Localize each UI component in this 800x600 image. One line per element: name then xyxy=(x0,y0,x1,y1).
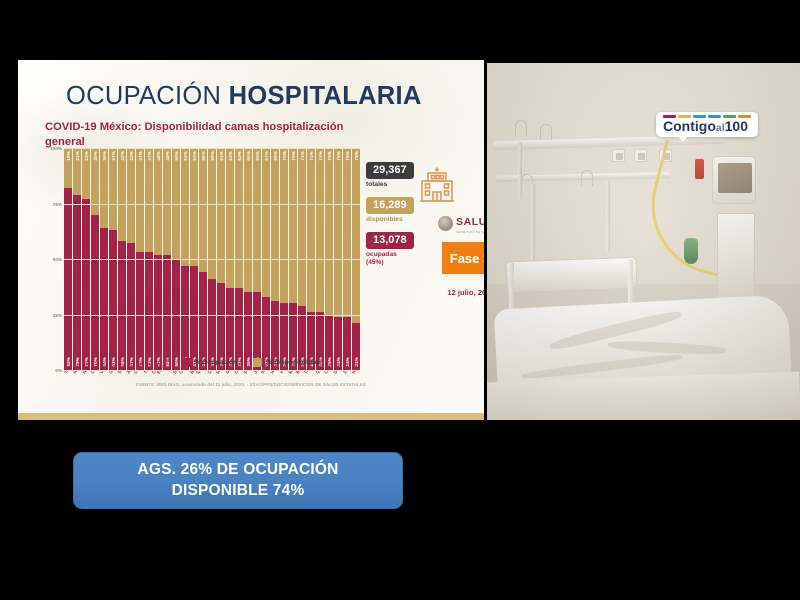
bar-segment-ocupacion: 63% xyxy=(109,230,117,370)
bar-value-disponibilidad: 37% xyxy=(111,151,116,161)
photo-iv-hook xyxy=(515,120,527,136)
bar-value-disponibilidad: 75% xyxy=(327,151,332,161)
bar-segment-disponibilidad: 67% xyxy=(262,148,270,297)
x-axis-tick: CAMP xyxy=(181,370,189,410)
gridline xyxy=(64,315,360,316)
slide-bottom-bar xyxy=(18,413,484,420)
banner-line-2: DISPONIBLE 74% xyxy=(172,481,305,502)
bar-segment-disponibilidad: 48% xyxy=(163,148,171,255)
bar-segment-ocupacion: 41% xyxy=(208,279,216,370)
y-axis-tick-label: 75% xyxy=(42,202,62,207)
bar-value-disponibilidad: 63% xyxy=(228,151,233,161)
kpi-ocupadas: 13,078ocupadas (45%) xyxy=(366,230,436,267)
x-axis-tick: MICH xyxy=(217,370,225,410)
bar-value-disponibilidad: 79% xyxy=(354,151,359,161)
bar-segment-disponibilidad: 74% xyxy=(307,148,315,312)
x-axis-tick: B.C. xyxy=(190,370,198,410)
bar-value-disponibilidad: 23% xyxy=(84,151,89,161)
photo-wall-pipe xyxy=(606,181,610,252)
contigo-word-3: 100 xyxy=(725,118,748,134)
bar-segment-disponibilidad: 37% xyxy=(109,148,117,230)
x-axis-tick: EDO-MEX xyxy=(163,370,171,410)
bar-segment-ocupacion: 53% xyxy=(145,252,153,370)
bar-segment-disponibilidad: 74% xyxy=(316,148,324,312)
bar-value-disponibilidad: 56% xyxy=(201,151,206,161)
x-axis-tick: SON xyxy=(118,370,126,410)
x-axis-tick: GTO xyxy=(109,370,117,410)
chart-legend: % Ocupación % Disponibilidad xyxy=(18,358,484,367)
x-axis-tick: CHIS xyxy=(235,370,243,410)
stacked-bar-chart: 18%82%21%79%23%77%30%70%36%64%37%63%42%5… xyxy=(42,148,360,410)
legend-label-disponibilidad: % Disponibilidad xyxy=(266,359,321,366)
bar-segment-disponibilidad: 63% xyxy=(235,148,243,288)
x-axis-tick: GRO xyxy=(226,370,234,410)
salud-logo-text: SALUD xyxy=(456,216,484,228)
x-axis-tick: SIN xyxy=(172,370,180,410)
y-axis-tick-label: 50% xyxy=(42,257,62,262)
contigo-logo-pointer xyxy=(678,136,688,142)
bar-value-disponibilidad: 69% xyxy=(273,151,278,161)
banner-line-1: AGS. 26% DE OCUPACIÓN xyxy=(137,460,338,481)
legend-item-ocupacion: % Ocupación xyxy=(181,358,237,367)
bar-value-disponibilidad: 36% xyxy=(102,151,107,161)
bar-value-disponibilidad: 42% xyxy=(120,151,125,161)
bar-value-disponibilidad: 43% xyxy=(129,151,134,161)
x-axis-tick: COL xyxy=(91,370,99,410)
bar-segment-disponibilidad: 36% xyxy=(100,148,108,228)
bar-segment-ocupacion: 52% xyxy=(154,255,162,370)
bar-value-disponibilidad: 76% xyxy=(336,151,341,161)
bar-segment-disponibilidad: 43% xyxy=(127,148,135,243)
bar-segment-disponibilidad: 70% xyxy=(280,148,288,303)
fase-badge: Fase 3 xyxy=(442,242,484,274)
x-axis-tick: DGO xyxy=(334,370,342,410)
x-axis-tick: CDMX xyxy=(154,370,162,410)
bar-segment-disponibilidad: 47% xyxy=(136,148,144,252)
bar-segment-ocupacion: 58% xyxy=(118,241,126,370)
bar-segment-disponibilidad: 65% xyxy=(253,148,261,292)
photo-wall-pipe xyxy=(531,184,535,270)
bar-value-disponibilidad: 18% xyxy=(66,151,71,161)
photo-gas-outlet xyxy=(612,149,625,162)
kpi-value: 16,289 xyxy=(366,197,414,214)
gridline xyxy=(64,204,360,205)
x-axis-tick: QRO xyxy=(316,370,324,410)
chart-x-axis: TABNAYN.L.COLVERGTOSONAGSCOAHTLAXCDMXEDO… xyxy=(64,370,360,410)
bar-segment-ocupacion: 82% xyxy=(64,188,72,370)
gridline xyxy=(64,148,360,149)
bar-segment-disponibilidad: 61% xyxy=(217,148,225,283)
page-title: OCUPACIÓN HOSPITALARIA xyxy=(66,82,422,111)
contigo-al-100-logo: Contigoal100 xyxy=(656,112,758,137)
photo-sheet-fold xyxy=(608,340,726,356)
bar-segment-disponibilidad: 79% xyxy=(352,148,360,323)
kpi-value: 29,367 xyxy=(366,162,414,179)
bar-value-disponibilidad: 70% xyxy=(282,151,287,161)
bar-segment-disponibilidad: 47% xyxy=(145,148,153,252)
page-title-bold: HOSPITALARIA xyxy=(229,82,422,110)
x-axis-tick: ZAC xyxy=(343,370,351,410)
photo-oxygen-bag xyxy=(684,238,698,264)
bar-value-disponibilidad: 59% xyxy=(210,151,215,161)
bar-segment-ocupacion: 79% xyxy=(73,195,81,370)
bar-value-disponibilidad: 74% xyxy=(309,151,314,161)
fase-badge-label: Fase 3 xyxy=(450,251,484,266)
government-seal-icon xyxy=(438,216,453,231)
y-axis-tick-label: 100% xyxy=(42,146,62,151)
bar-value-disponibilidad: 21% xyxy=(75,151,80,161)
bar-segment-disponibilidad: 30% xyxy=(91,148,99,215)
legend-swatch-ocupacion xyxy=(181,358,190,367)
gridline xyxy=(64,259,360,260)
x-axis-tick: CHIH xyxy=(325,370,333,410)
x-axis-tick: NAC xyxy=(352,370,360,410)
contigo-word-2: al xyxy=(716,122,725,134)
photo-bed-headboard xyxy=(505,257,637,294)
bar-value-disponibilidad: 53% xyxy=(192,151,197,161)
bar-value-disponibilidad: 65% xyxy=(246,151,251,161)
salud-logo: SALUD SECRETARÍA DE SALUD xyxy=(438,212,484,234)
photo-patient-monitor xyxy=(712,156,756,204)
kpi-totales: 29,367totales xyxy=(366,160,436,189)
presentation-slide: OCUPACIÓN HOSPITALARIA COVID-19 México: … xyxy=(18,60,484,420)
photo-iv-hook xyxy=(581,170,593,186)
bar-segment-ocupacion: 39% xyxy=(217,283,225,370)
photo-wall-pipe xyxy=(518,142,522,199)
kpi-value: 13,078 xyxy=(366,232,414,249)
legend-item-disponibilidad: % Disponibilidad xyxy=(253,358,321,367)
x-axis-tick: AGS xyxy=(127,370,135,410)
bar-segment-disponibilidad: 23% xyxy=(82,148,90,199)
bar-segment-ocupacion: 47% xyxy=(181,266,189,370)
bar-value-disponibilidad: 30% xyxy=(93,151,98,161)
contigo-word-1: Contigo xyxy=(663,118,716,134)
bar-segment-ocupacion: 57% xyxy=(127,243,135,370)
x-axis-tick: N.L. xyxy=(82,370,90,410)
bar-value-disponibilidad: 48% xyxy=(156,151,161,161)
x-axis-tick: PUE xyxy=(244,370,252,410)
x-axis-tick: JAL xyxy=(253,370,261,410)
photo-red-valve xyxy=(695,159,704,179)
chart-heading: COVID-19 México: Disponibilidad camas ho… xyxy=(45,120,375,149)
bar-segment-disponibilidad: 56% xyxy=(199,148,207,272)
x-axis-tick: B.C.S. xyxy=(298,370,306,410)
kpi-caption: totales xyxy=(366,181,436,189)
page-title-light: OCUPACIÓN xyxy=(66,82,221,110)
bar-segment-ocupacion: 52% xyxy=(163,255,171,370)
bar-segment-disponibilidad: 53% xyxy=(181,148,189,266)
bar-segment-disponibilidad: 71% xyxy=(298,148,306,306)
bar-value-disponibilidad: 67% xyxy=(264,151,269,161)
y-axis-tick-label: 25% xyxy=(42,313,62,318)
x-axis-tick: COAH xyxy=(136,370,144,410)
x-axis-tick: MOR xyxy=(289,370,297,410)
bar-segment-disponibilidad: 70% xyxy=(289,148,297,303)
x-axis-tick: Q.ROO xyxy=(199,370,207,410)
photo-monitor-screen xyxy=(718,163,752,193)
x-axis-tick: TAB xyxy=(64,370,72,410)
bar-segment-disponibilidad: 76% xyxy=(334,148,342,317)
bar-segment-disponibilidad: 76% xyxy=(343,148,351,317)
photo-monitor-stand xyxy=(717,213,755,303)
bar-segment-disponibilidad: 53% xyxy=(190,148,198,266)
x-axis-tick: TAMPS xyxy=(307,370,315,410)
bar-segment-ocupacion: 70% xyxy=(91,215,99,370)
photo-gas-outlet xyxy=(634,149,647,162)
summary-banner: AGS. 26% DE OCUPACIÓN DISPONIBLE 74% xyxy=(73,452,403,509)
kpi-disponibles: 16,289disponibles xyxy=(366,195,436,224)
chart-source-note: FUENTE: RED IRAG, acumulado del 11 julio… xyxy=(18,382,484,387)
slide-date: 12 julio, 2020 xyxy=(442,288,484,297)
bar-value-disponibilidad: 70% xyxy=(291,151,296,161)
bar-value-disponibilidad: 47% xyxy=(138,151,143,161)
bar-segment-disponibilidad: 75% xyxy=(325,148,333,315)
salud-logo-subtext: SECRETARÍA DE SALUD xyxy=(456,231,484,234)
bar-value-disponibilidad: 53% xyxy=(183,151,188,161)
kpi-caption: disponibles xyxy=(366,216,436,224)
kpi-list: 29,367totales16,289disponibles13,078ocup… xyxy=(366,160,436,273)
bar-segment-ocupacion: 77% xyxy=(82,199,90,370)
legend-label-ocupacion: % Ocupación xyxy=(194,359,237,366)
bar-segment-ocupacion: 47% xyxy=(190,266,198,370)
bar-segment-disponibilidad: 65% xyxy=(244,148,252,292)
x-axis-tick: HGO xyxy=(271,370,279,410)
bar-value-disponibilidad: 50% xyxy=(174,151,179,161)
bar-value-disponibilidad: 61% xyxy=(219,151,224,161)
gridline xyxy=(64,370,360,371)
bar-segment-ocupacion: 53% xyxy=(136,252,144,370)
bar-segment-ocupacion: 44% xyxy=(199,272,207,370)
bar-value-disponibilidad: 65% xyxy=(255,151,260,161)
bar-segment-disponibilidad: 63% xyxy=(226,148,234,288)
bar-value-disponibilidad: 48% xyxy=(165,151,170,161)
bar-segment-disponibilidad: 21% xyxy=(73,148,81,195)
bar-segment-ocupacion: 64% xyxy=(100,228,108,370)
bar-segment-disponibilidad: 69% xyxy=(271,148,279,301)
kpi-caption: ocupadas (45%) xyxy=(366,251,436,267)
x-axis-tick: S.L.P. xyxy=(262,370,270,410)
bar-segment-disponibilidad: 42% xyxy=(118,148,126,241)
bar-value-disponibilidad: 76% xyxy=(345,151,350,161)
bar-segment-disponibilidad: 48% xyxy=(154,148,162,255)
x-axis-tick: YUC xyxy=(280,370,288,410)
photo-iv-hook xyxy=(540,124,552,140)
x-axis-tick: VER xyxy=(100,370,108,410)
screenshot-root: OCUPACIÓN HOSPITALARIA COVID-19 México: … xyxy=(0,0,800,600)
x-axis-tick: TLAX xyxy=(145,370,153,410)
y-axis-tick-label: 0% xyxy=(42,368,62,373)
bar-value-disponibilidad: 47% xyxy=(147,151,152,161)
bar-value-disponibilidad: 74% xyxy=(318,151,323,161)
x-axis-tick: NAY xyxy=(73,370,81,410)
legend-swatch-disponibilidad xyxy=(253,358,262,367)
contigo-logo-text: Contigoal100 xyxy=(663,119,751,134)
bar-segment-disponibilidad: 18% xyxy=(64,148,72,188)
x-axis-tick: OAX xyxy=(208,370,216,410)
bar-value-disponibilidad: 63% xyxy=(237,151,242,161)
bar-value-disponibilidad: 71% xyxy=(300,151,305,161)
